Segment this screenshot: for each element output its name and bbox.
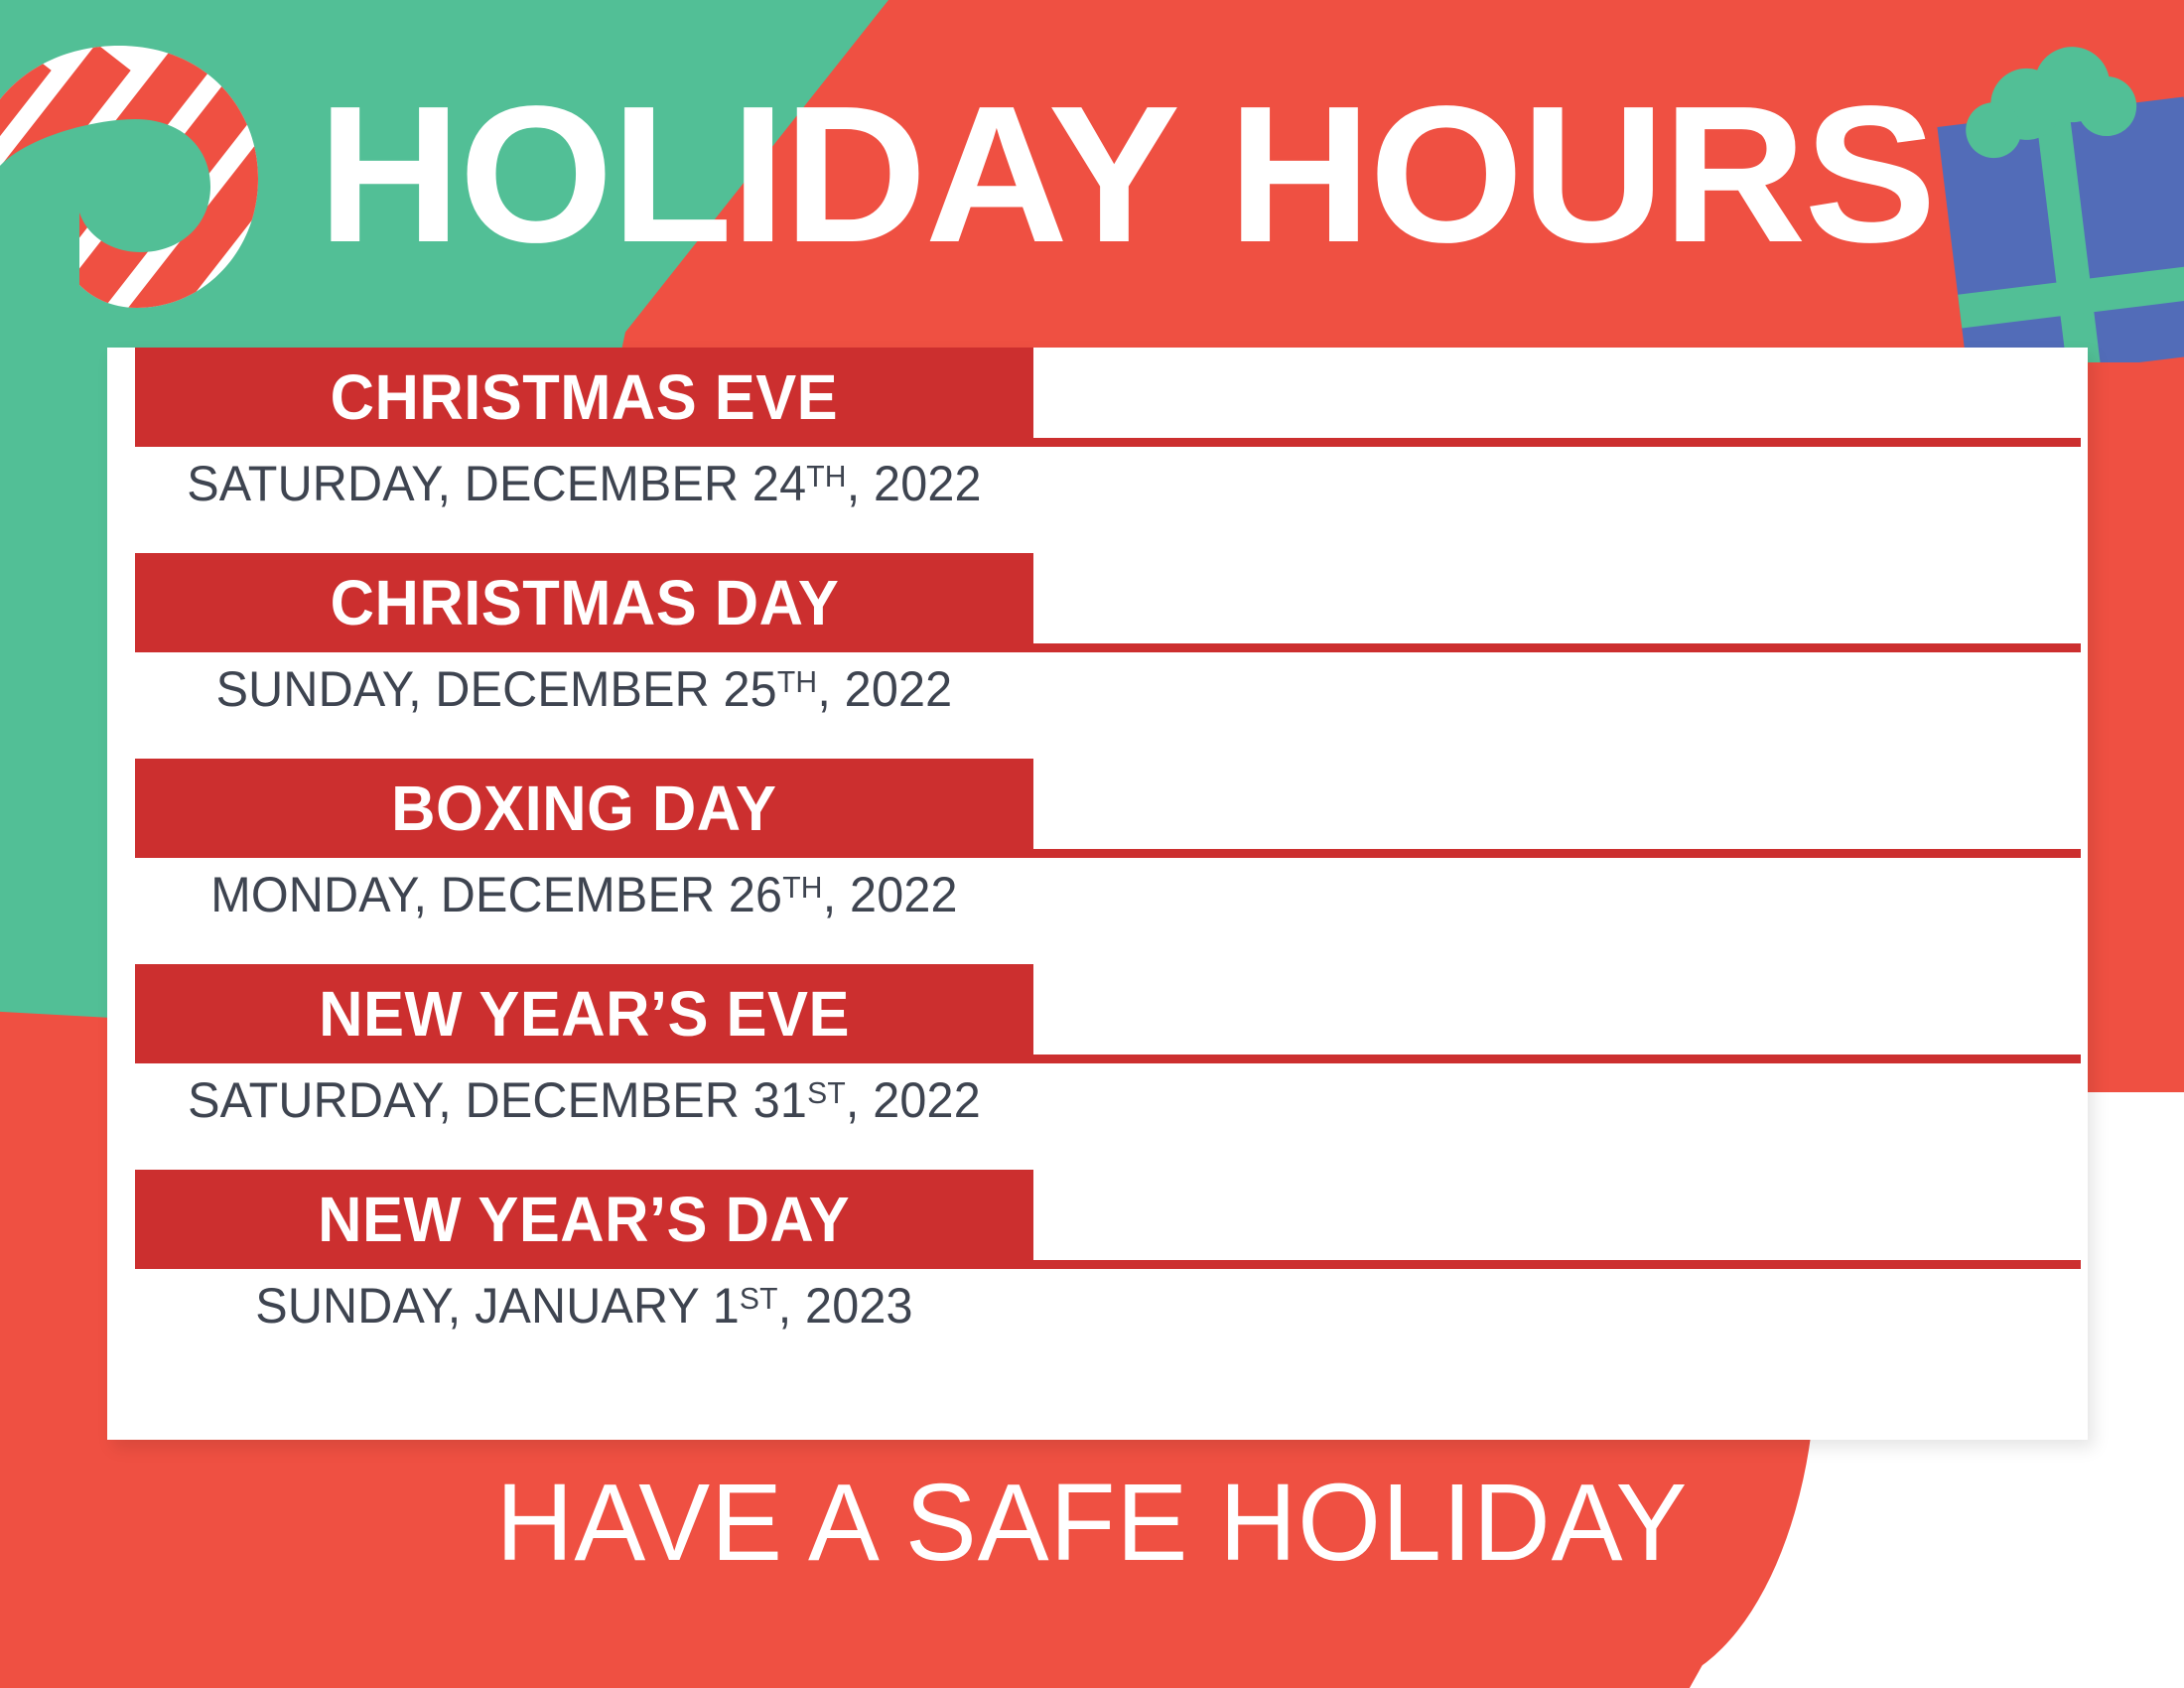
holiday-date: SATURDAY, DECEMBER 24TH, 2022 bbox=[149, 455, 1021, 512]
holiday-bar: NEW YEAR’S DAY bbox=[135, 1170, 1033, 1269]
holiday-rule bbox=[1033, 643, 2081, 652]
holiday-row: CHRISTMAS DAY SUNDAY, DECEMBER 25TH, 202… bbox=[107, 553, 2088, 759]
holiday-date-suffix: ST bbox=[807, 1075, 846, 1110]
holiday-name: NEW YEAR’S DAY bbox=[319, 1188, 851, 1251]
holiday-bar: NEW YEAR’S EVE bbox=[135, 964, 1033, 1063]
holiday-row: CHRISTMAS EVE SATURDAY, DECEMBER 24TH, 2… bbox=[107, 348, 2088, 553]
holiday-row: NEW YEAR’S DAY SUNDAY, JANUARY 1ST, 2023 bbox=[107, 1170, 2088, 1383]
holiday-date-main: SUNDAY, DECEMBER 25 bbox=[216, 661, 777, 717]
holiday-bar-wrap: BOXING DAY bbox=[107, 759, 2088, 858]
holiday-date: SUNDAY, JANUARY 1ST, 2023 bbox=[149, 1277, 1021, 1335]
holiday-name: CHRISTMAS DAY bbox=[330, 571, 839, 634]
holiday-bar: CHRISTMAS EVE bbox=[135, 348, 1033, 447]
holiday-date-suffix: TH bbox=[782, 870, 822, 905]
holiday-date: SATURDAY, DECEMBER 31ST, 2022 bbox=[149, 1071, 1021, 1129]
holiday-bar-wrap: NEW YEAR’S DAY bbox=[107, 1170, 2088, 1269]
holiday-rows-list: CHRISTMAS EVE SATURDAY, DECEMBER 24TH, 2… bbox=[107, 348, 2088, 1383]
page-title: HOLIDAY HOURS bbox=[318, 77, 1979, 272]
holiday-date-year: , 2022 bbox=[846, 1072, 981, 1128]
holiday-bar-wrap: CHRISTMAS DAY bbox=[107, 553, 2088, 652]
holiday-name: NEW YEAR’S EVE bbox=[319, 982, 850, 1046]
hours-card: CHRISTMAS EVE SATURDAY, DECEMBER 24TH, 2… bbox=[107, 348, 2088, 1440]
holiday-date-suffix: ST bbox=[740, 1281, 778, 1316]
holiday-date-year: , 2023 bbox=[778, 1278, 913, 1334]
holiday-date-main: SUNDAY, JANUARY 1 bbox=[255, 1278, 740, 1334]
holiday-rule bbox=[1033, 849, 2081, 858]
holiday-name: CHRISTMAS EVE bbox=[331, 365, 838, 429]
holiday-date-main: MONDAY, DECEMBER 26 bbox=[210, 867, 782, 922]
holiday-name: BOXING DAY bbox=[391, 776, 776, 840]
holiday-date: MONDAY, DECEMBER 26TH, 2022 bbox=[149, 866, 1021, 923]
holiday-hours-poster: HOLIDAY HOURS CHRISTMAS EVE SATURDAY, DE… bbox=[0, 0, 2184, 1688]
holiday-row: NEW YEAR’S EVE SATURDAY, DECEMBER 31ST, … bbox=[107, 964, 2088, 1170]
holiday-row: BOXING DAY MONDAY, DECEMBER 26TH, 2022 bbox=[107, 759, 2088, 964]
holiday-date-year: , 2022 bbox=[817, 661, 952, 717]
holiday-bar: CHRISTMAS DAY bbox=[135, 553, 1033, 652]
holiday-rule bbox=[1033, 438, 2081, 447]
holiday-date: SUNDAY, DECEMBER 25TH, 2022 bbox=[149, 660, 1021, 718]
holiday-date-year: , 2022 bbox=[823, 867, 958, 922]
holiday-date-suffix: TH bbox=[806, 459, 846, 493]
holiday-date-main: SATURDAY, DECEMBER 24 bbox=[187, 456, 806, 511]
footer-message: HAVE A SAFE HOLIDAY bbox=[22, 1460, 2162, 1586]
holiday-bar-wrap: CHRISTMAS EVE bbox=[107, 348, 2088, 447]
holiday-rule bbox=[1033, 1260, 2081, 1269]
holiday-bar: BOXING DAY bbox=[135, 759, 1033, 858]
holiday-rule bbox=[1033, 1055, 2081, 1063]
holiday-date-suffix: TH bbox=[777, 664, 817, 699]
holiday-date-main: SATURDAY, DECEMBER 31 bbox=[188, 1072, 807, 1128]
holiday-bar-wrap: NEW YEAR’S EVE bbox=[107, 964, 2088, 1063]
holiday-date-year: , 2022 bbox=[847, 456, 982, 511]
